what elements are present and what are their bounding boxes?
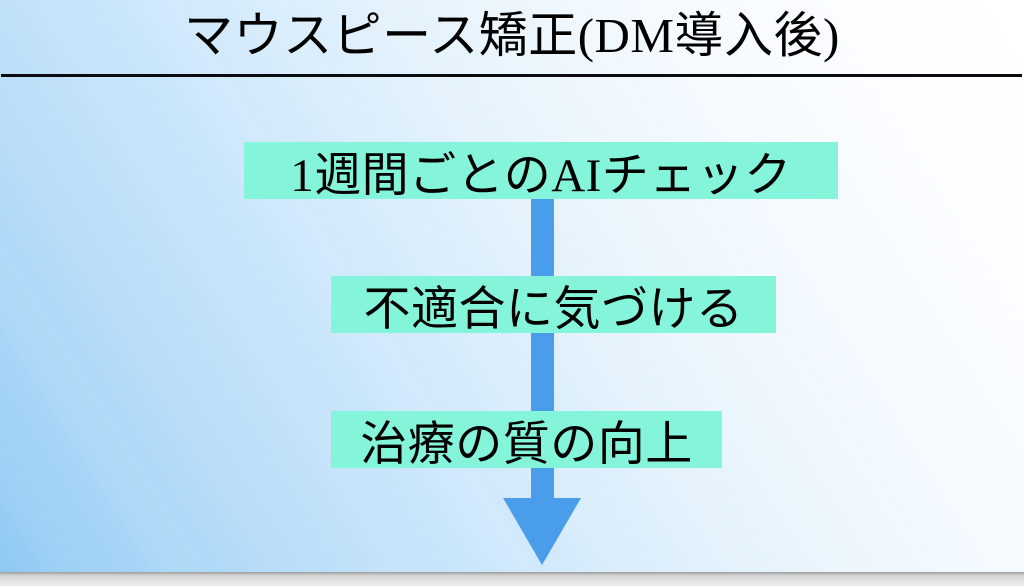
downward-flow-arrow-icon — [503, 190, 581, 565]
title-divider — [1, 74, 1022, 77]
flow-step-3: 治療の質の向上 — [331, 411, 722, 468]
flow-step-2: 不適合に気づける — [331, 276, 776, 333]
flow-step-1: 1週間ごとのAIチェック — [244, 142, 838, 199]
slide-title-area: マウスピース矯正(DM導入後) — [0, 0, 1024, 76]
page-title: マウスピース矯正(DM導入後) — [0, 2, 1024, 70]
arrow-head — [503, 498, 581, 565]
bottom-chrome-strip — [0, 572, 1024, 586]
presentation-slide: マウスピース矯正(DM導入後) 1週間ごとのAIチェック 不適合に気づける 治療… — [0, 0, 1024, 586]
